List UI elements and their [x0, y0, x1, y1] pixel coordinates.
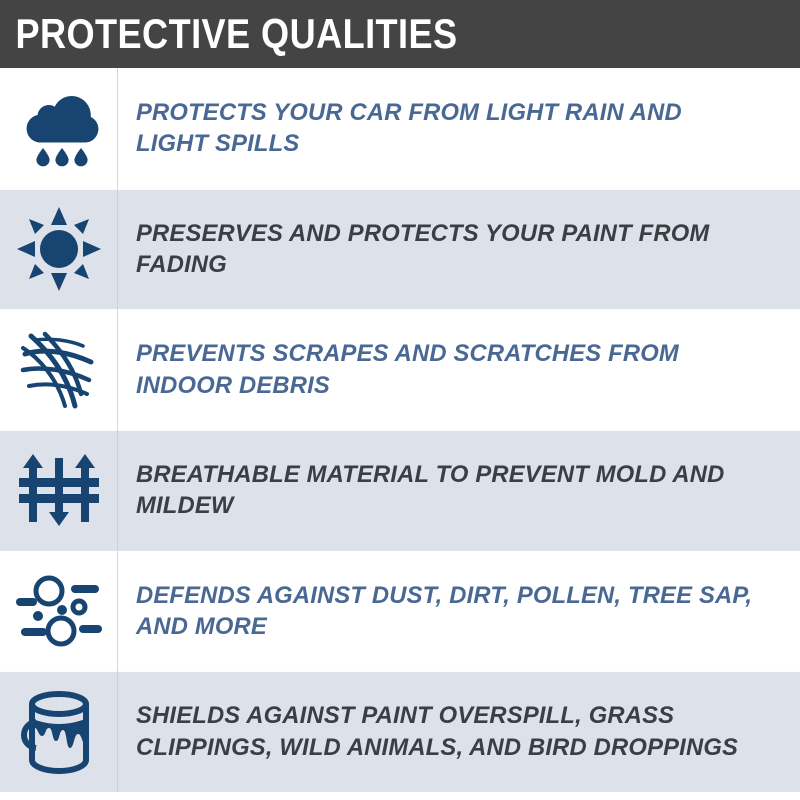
paint-can-icon: [16, 686, 102, 778]
feature-text-paint: SHIELDS AGAINST PAINT OVERSPILL, GRASS C…: [136, 700, 759, 763]
text-cell-breathable: BREATHABLE MATERIAL TO PREVENT MOLD AND …: [118, 430, 800, 551]
scratch-mesh-icon: [15, 326, 103, 414]
feature-row-rain: PROTECTS YOUR CAR FROM LIGHT RAIN AND LI…: [0, 68, 800, 189]
feature-row-paint: SHIELDS AGAINST PAINT OVERSPILL, GRASS C…: [0, 671, 800, 792]
text-cell-paint: SHIELDS AGAINST PAINT OVERSPILL, GRASS C…: [118, 671, 800, 792]
breathable-airflow-arrows-icon: [15, 446, 103, 534]
icon-cell-scratch: [0, 309, 118, 430]
icon-cell-dust: [0, 551, 118, 672]
feature-text-dust: DEFENDS AGAINST DUST, DIRT, POLLEN, TREE…: [136, 580, 759, 643]
text-cell-rain: PROTECTS YOUR CAR FROM LIGHT RAIN AND LI…: [118, 68, 800, 189]
feature-row-dust: DEFENDS AGAINST DUST, DIRT, POLLEN, TREE…: [0, 551, 800, 672]
feature-text-breathable: BREATHABLE MATERIAL TO PREVENT MOLD AND …: [136, 459, 759, 522]
text-cell-dust: DEFENDS AGAINST DUST, DIRT, POLLEN, TREE…: [118, 551, 800, 672]
feature-row-scratch: PREVENTS SCRAPES AND SCRATCHES FROM INDO…: [0, 309, 800, 430]
icon-cell-breathable: [0, 430, 118, 551]
feature-list: PROTECTS YOUR CAR FROM LIGHT RAIN AND LI…: [0, 68, 800, 792]
icon-cell-rain: [0, 68, 118, 189]
rain-cloud-icon: [17, 86, 101, 170]
dust-particles-icon: [13, 571, 105, 651]
protective-qualities-infographic: PROTECTIVE QUALITIES PROTECTS YOUR CAR F…: [0, 0, 800, 800]
feature-text-sun: PRESERVES AND PROTECTS YOUR PAINT FROM F…: [136, 218, 759, 281]
feature-row-sun: PRESERVES AND PROTECTS YOUR PAINT FROM F…: [0, 189, 800, 310]
icon-cell-paint: [0, 671, 118, 792]
page-title: PROTECTIVE QUALITIES: [0, 13, 458, 55]
feature-row-breathable: BREATHABLE MATERIAL TO PREVENT MOLD AND …: [0, 430, 800, 551]
feature-text-scratch: PREVENTS SCRAPES AND SCRATCHES FROM INDO…: [136, 338, 759, 401]
header-bar: PROTECTIVE QUALITIES: [0, 0, 800, 68]
bottom-spacer: [0, 792, 800, 800]
text-cell-sun: PRESERVES AND PROTECTS YOUR PAINT FROM F…: [118, 189, 800, 310]
feature-text-rain: PROTECTS YOUR CAR FROM LIGHT RAIN AND LI…: [136, 97, 759, 160]
sun-icon: [15, 205, 103, 293]
icon-cell-sun: [0, 189, 118, 310]
text-cell-scratch: PREVENTS SCRAPES AND SCRATCHES FROM INDO…: [118, 309, 800, 430]
